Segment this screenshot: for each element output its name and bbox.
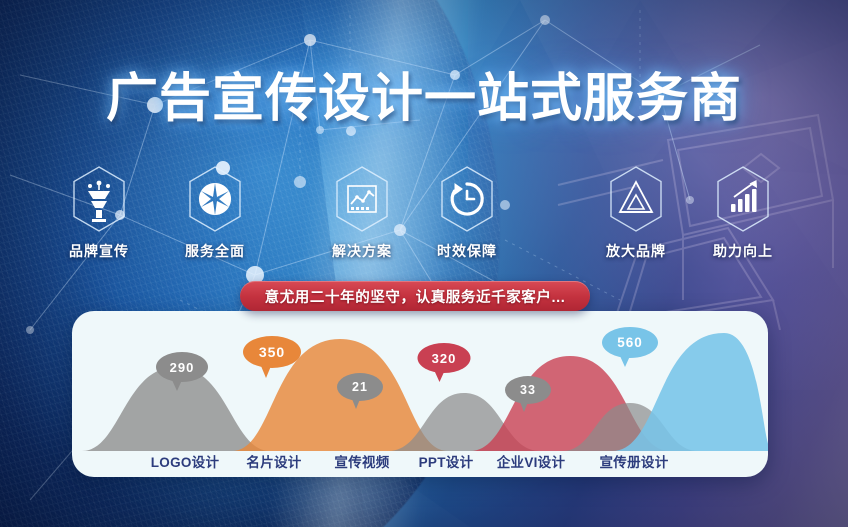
feature-label: 服务全面 <box>167 241 263 261</box>
feature-label: 解决方案 <box>314 241 410 261</box>
triangle-brand-icon <box>605 164 667 234</box>
category-label: PPT设计 <box>419 451 474 471</box>
value-bubble-text: 290 <box>156 352 208 382</box>
chart-category-labels: LOGO设计 名片设计 宣传视频 PPT设计 企业VI设计 宣传册设计 <box>0 451 848 475</box>
value-bubble-mingpian: 350 <box>243 336 301 368</box>
value-bubble-text: 21 <box>337 373 383 401</box>
value-bubble-logo: 290 <box>156 352 208 382</box>
feature-label: 放大品牌 <box>588 241 684 261</box>
category-label: 企业VI设计 <box>497 451 566 471</box>
poster-canvas: 广告宣传设计一站式服务商 品牌宣传 <box>0 0 848 527</box>
value-bubble-text: 560 <box>602 327 658 358</box>
tagline-ribbon: 意尤用二十年的坚守，认真服务近千家客户... <box>240 281 590 311</box>
feature-item-solutions[interactable]: 解决方案 <box>314 164 410 261</box>
value-bubble-text: 320 <box>418 343 471 373</box>
bar-growth-icon <box>712 164 774 234</box>
feature-label: 助力向上 <box>695 241 791 261</box>
page-title: 广告宣传设计一站式服务商 <box>0 56 848 131</box>
category-label: 名片设计 <box>246 451 301 471</box>
feature-item-full-service[interactable]: 服务全面 <box>167 164 263 261</box>
clock-rewind-icon <box>436 164 498 234</box>
line-chart-icon <box>331 164 393 234</box>
tagline-text: 意尤用二十年的坚守，认真服务近千家客户... <box>265 286 566 307</box>
aperture-icon <box>184 164 246 234</box>
value-bubble-ppt: 320 <box>418 343 471 373</box>
category-label: 宣传册设计 <box>600 451 669 471</box>
feature-item-timeliness[interactable]: 时效保障 <box>419 164 515 261</box>
value-bubble-text: 350 <box>243 336 301 368</box>
category-label: LOGO设计 <box>151 451 220 471</box>
megaphone-trophy-icon <box>68 164 130 234</box>
feature-item-brand-amplify[interactable]: 放大品牌 <box>588 164 684 261</box>
value-bubble-text: 33 <box>505 376 551 404</box>
feature-item-growth[interactable]: 助力向上 <box>695 164 791 261</box>
value-bubble-cebook: 560 <box>602 327 658 358</box>
value-bubble-vi: 33 <box>505 376 551 404</box>
feature-item-brand-promotion[interactable]: 品牌宣传 <box>51 164 147 261</box>
feature-label: 时效保障 <box>419 241 515 261</box>
category-label: 宣传视频 <box>334 451 389 471</box>
value-bubble-video: 21 <box>337 373 383 401</box>
feature-label: 品牌宣传 <box>51 241 147 261</box>
